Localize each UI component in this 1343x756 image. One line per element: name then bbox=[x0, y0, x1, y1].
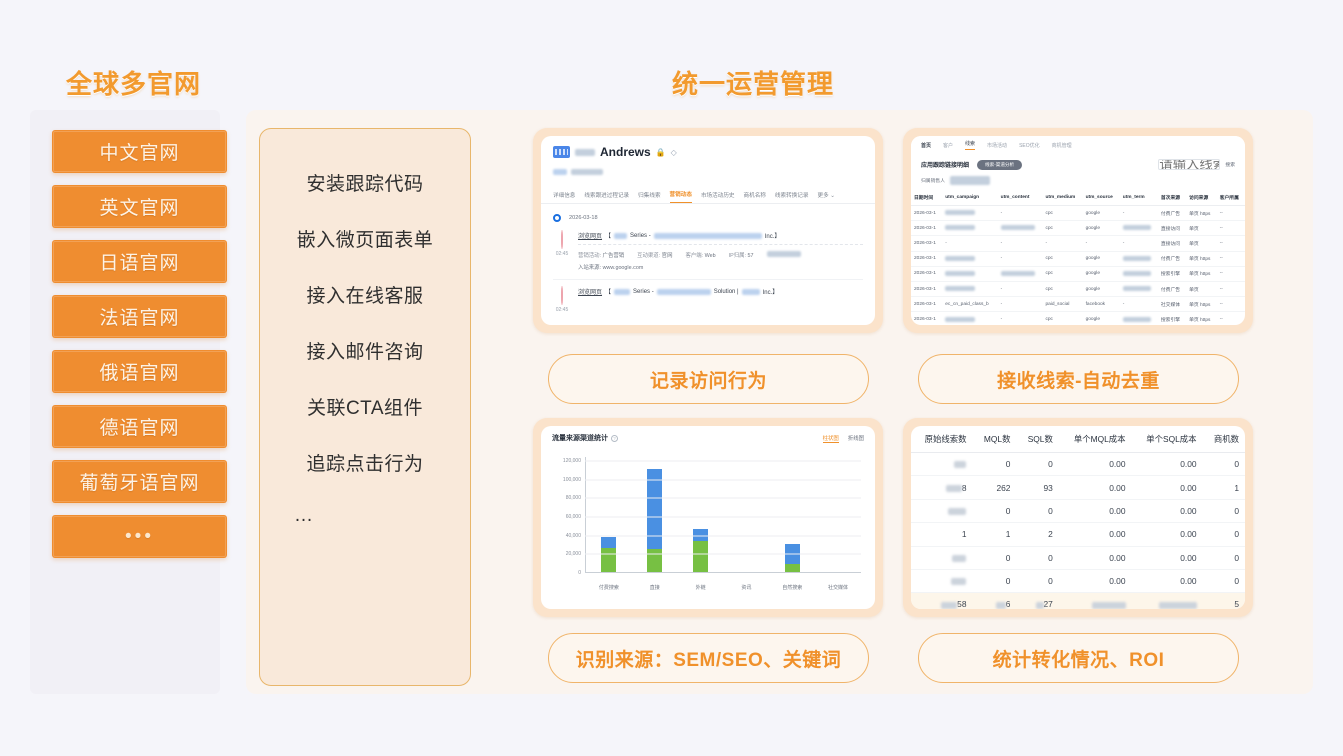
language-site-button[interactable]: 英文官网 bbox=[52, 185, 227, 228]
leads-cell-date: 2026-03-1 bbox=[911, 236, 942, 251]
leads-title: 应用跟踪链接明细 bbox=[921, 160, 969, 169]
language-site-button[interactable]: 法语官网 bbox=[52, 295, 227, 338]
chart-bar-segment bbox=[647, 469, 662, 548]
leads-cell-first: 社交媒体 bbox=[1158, 297, 1186, 312]
roi-table-row[interactable]: 000.000.000 bbox=[911, 546, 1245, 569]
filter-value-redacted[interactable] bbox=[950, 176, 990, 185]
contact-subtitle bbox=[553, 163, 863, 181]
leads-cell-visit: 单页 bbox=[1186, 221, 1217, 236]
search-input[interactable] bbox=[1158, 159, 1220, 170]
leads-cell-campaign: ec_cn_paid_class_b bbox=[942, 297, 997, 312]
language-site-button[interactable]: 日语官网 bbox=[52, 240, 227, 283]
chart-gridline bbox=[585, 554, 861, 555]
leads-cell-medium: - bbox=[1042, 236, 1082, 251]
behavior-tab[interactable]: 商机名称 bbox=[744, 191, 766, 203]
event-content: 浏览网页 【 Series - Inc.】 营销活动: 广告营销互动渠道: 官网… bbox=[578, 231, 863, 271]
screenshot-lead-dedup: 首页客户线索市场活动SEO优化商机管理 应用跟踪链接明细 线索-渠道分析 搜索 … bbox=[903, 128, 1253, 333]
leads-column-header[interactable]: 访问来源 bbox=[1186, 190, 1217, 206]
leads-cell-medium: cpc bbox=[1042, 312, 1082, 325]
leads-cell-date: 2026-03-1 bbox=[911, 266, 942, 281]
timeline-date: 2026-03-18 bbox=[569, 215, 598, 221]
roi-total-cell-raw: 58 bbox=[911, 593, 972, 609]
language-site-button[interactable]: 德语官网 bbox=[52, 405, 227, 448]
leads-nav-item[interactable]: SEO优化 bbox=[1019, 142, 1040, 149]
event-title-row: 浏览网页 【 Series - Inc.】 bbox=[578, 231, 863, 245]
roi-column-header[interactable]: 商机数 bbox=[1203, 426, 1245, 453]
roi-cell-opp: 0 bbox=[1203, 499, 1245, 522]
event-time-column: 02:45 bbox=[553, 287, 571, 313]
roi-table-row[interactable]: 000.000.000 bbox=[911, 569, 1245, 592]
roi-cell-opp: 0 bbox=[1203, 546, 1245, 569]
leads-column-header[interactable]: utm_content bbox=[998, 190, 1043, 206]
leads-cell-owner: -- bbox=[1217, 312, 1245, 325]
leads-cell-content: - bbox=[998, 281, 1043, 296]
redacted-value bbox=[1036, 602, 1044, 609]
page-title-right: 统一运营管理 bbox=[672, 64, 834, 101]
timeline-divider bbox=[553, 279, 863, 280]
leads-table-row[interactable]: 2026-03-1cpcgoogle直接访问单页-- bbox=[911, 221, 1245, 236]
leads-title-row: 应用跟踪链接明细 线索-渠道分析 搜索 bbox=[911, 154, 1245, 173]
roi-cell-mql: 0 bbox=[972, 546, 1016, 569]
leads-table: 日期时间utm_campaignutm_contentutm_mediumutm… bbox=[911, 190, 1245, 325]
roi-cell-sql_cost: 0.00 bbox=[1132, 476, 1203, 499]
leads-cell-source: google bbox=[1083, 221, 1120, 236]
language-site-button[interactable]: 葡萄牙语官网 bbox=[52, 460, 227, 503]
roi-cell-mql: 0 bbox=[972, 453, 1016, 476]
referrer-value: www.google.com bbox=[603, 265, 644, 271]
leads-column-header[interactable]: 日期时间 bbox=[911, 190, 942, 206]
event-referrer-row: 入站来源: www.google.com bbox=[578, 263, 863, 271]
roi-cell-sql: 0 bbox=[1016, 569, 1058, 592]
redacted-value bbox=[1123, 286, 1151, 291]
leads-cell-content: - bbox=[998, 297, 1043, 312]
contact-name: Andrews bbox=[600, 145, 651, 159]
roi-cell-sql_cost: 0.00 bbox=[1132, 499, 1203, 522]
event-meta-item: 客户端: Web bbox=[685, 251, 715, 259]
chart-x-axis bbox=[585, 572, 861, 573]
redacted-value bbox=[996, 602, 1006, 609]
leads-cell-date: 2026-03-1 bbox=[911, 221, 942, 236]
leads-cell-term bbox=[1120, 251, 1158, 266]
setup-step-item: … bbox=[294, 505, 316, 527]
setup-step-item: 接入邮件咨询 bbox=[306, 337, 423, 364]
roi-cell-mql_cost: 0.00 bbox=[1059, 569, 1132, 592]
roi-table-row[interactable]: 000.000.000 bbox=[911, 499, 1245, 522]
chart-x-tick-label: 外链 bbox=[678, 584, 724, 591]
leads-cell-content bbox=[998, 221, 1043, 236]
event-time-column: 02:45 bbox=[553, 231, 571, 271]
redacted-value bbox=[945, 271, 975, 276]
leads-table-row[interactable]: 2026-03-1ec_cn_paid_class_b-paid_socialf… bbox=[911, 297, 1245, 312]
redacted-value bbox=[945, 317, 975, 322]
chart-plot-area: 付费搜索直接外链资讯自然搜索社交媒体 120,000100,00080,0006… bbox=[551, 457, 865, 591]
behavior-tab[interactable]: 线索跟进过程记录 bbox=[584, 191, 629, 203]
redacted-page-part bbox=[614, 289, 630, 295]
chart-gridline bbox=[585, 498, 861, 499]
leads-cell-campaign bbox=[942, 206, 997, 221]
event-page-suffix: Inc.】 bbox=[765, 231, 781, 240]
leads-cell-first: 搜索引擎 bbox=[1158, 266, 1186, 281]
roi-column-header[interactable]: 单个MQL成本 bbox=[1059, 426, 1132, 453]
leads-nav-item[interactable]: 市场活动 bbox=[987, 142, 1007, 149]
redacted-value bbox=[952, 555, 966, 562]
behavior-tab[interactable]: 线索转换记录 bbox=[775, 191, 809, 203]
help-icon[interactable]: ? bbox=[611, 435, 618, 442]
roi-cell-mql: 0 bbox=[972, 499, 1016, 522]
leads-cell-campaign bbox=[942, 221, 997, 236]
behavior-tab[interactable]: 归集线索 bbox=[638, 191, 660, 203]
roi-cell-opp: 1 bbox=[1203, 476, 1245, 499]
redacted-value bbox=[1159, 602, 1197, 609]
leads-cell-medium: cpc bbox=[1042, 251, 1082, 266]
roi-cell-raw bbox=[911, 569, 972, 592]
leads-cell-content: - bbox=[998, 236, 1043, 251]
roi-cell-mql_cost: 0.00 bbox=[1059, 476, 1132, 499]
chart-header: 流量来源渠道统计 ? 柱状图 折线图 bbox=[541, 426, 875, 443]
language-site-button[interactable]: ••• bbox=[52, 515, 227, 558]
timeline-event: 02:45 浏览网页 【 Series - Solution | Inc.】 bbox=[553, 287, 863, 313]
roi-total-cell-sql: 27 bbox=[1016, 593, 1058, 609]
chart-y-tick-label: 60,000 bbox=[551, 514, 581, 520]
chart-title: 流量来源渠道统计 bbox=[552, 433, 608, 443]
redacted-page-title bbox=[657, 289, 711, 295]
roi-cell-raw bbox=[911, 546, 972, 569]
leads-cell-term: - bbox=[1120, 297, 1158, 312]
company-logo-icon bbox=[553, 146, 570, 158]
chart-app-window: 流量来源渠道统计 ? 柱状图 折线图 付费搜索直接外链资讯自然搜索社交媒体 12… bbox=[541, 426, 875, 609]
roi-cell-mql_cost: 0.00 bbox=[1059, 453, 1132, 476]
leads-cell-owner: -- bbox=[1217, 266, 1245, 281]
roi-app-window: 原始线索数MQL数SQL数单个MQL成本单个SQL成本商机数 000.000.0… bbox=[911, 426, 1245, 609]
leads-cell-visit: 单页 https bbox=[1186, 206, 1217, 221]
event-time: 02:45 bbox=[553, 251, 571, 257]
roi-cell-sql: 93 bbox=[1016, 476, 1058, 499]
redacted-value bbox=[948, 508, 966, 515]
leads-nav-bar[interactable]: 首页客户线索市场活动SEO优化商机管理 bbox=[911, 136, 1245, 154]
setup-step-item: 接入在线客服 bbox=[306, 281, 423, 308]
referrer-label: 入站来源: bbox=[578, 265, 601, 271]
leads-cell-visit: 单页 https bbox=[1186, 251, 1217, 266]
redacted-page-title bbox=[654, 233, 762, 239]
roi-cell-sql: 0 bbox=[1016, 453, 1058, 476]
leads-filter-bar: 归属销售人 bbox=[911, 173, 1245, 190]
roi-cell-raw: 1 bbox=[911, 523, 972, 546]
chart-gridline bbox=[585, 535, 861, 536]
timeline-date-row: 2026-03-18 bbox=[553, 214, 863, 222]
event-meta-row: 营销活动: 广告营销互动渠道: 官网客户端: WebIP归属: 57 bbox=[578, 251, 863, 259]
redacted-value bbox=[1001, 225, 1035, 230]
redacted-subtitle bbox=[571, 169, 603, 175]
roi-cell-sql: 0 bbox=[1016, 499, 1058, 522]
page-title-left: 全球多官网 bbox=[66, 64, 201, 101]
event-content: 浏览网页 【 Series - Solution | Inc.】 bbox=[578, 287, 863, 313]
behavior-header: Andrews 🔒 ◇ bbox=[541, 136, 875, 185]
leads-cell-source: google bbox=[1083, 266, 1120, 281]
behavior-tab[interactable]: 市场活动历史 bbox=[701, 191, 735, 203]
behavior-app-window: Andrews 🔒 ◇ 详细信息线索跟进过程记录归集线索营销动态市场活动历史商机… bbox=[541, 136, 875, 325]
leads-cell-content: - bbox=[998, 206, 1043, 221]
behavior-tab[interactable]: 更多 ⌄ bbox=[817, 191, 834, 203]
leads-cell-content: - bbox=[998, 251, 1043, 266]
redacted-page-part bbox=[614, 233, 627, 239]
leads-cell-source: google bbox=[1083, 312, 1120, 325]
event-action[interactable]: 浏览网页 bbox=[578, 231, 602, 240]
setup-steps-card: 安装跟踪代码嵌入微页面表单接入在线客服接入邮件咨询关联CTA组件追踪点击行为… bbox=[259, 128, 471, 686]
caption-identify-source: 识别来源：SEM/SEO、关键词 bbox=[548, 633, 869, 683]
leads-chip-badge: 线索-渠道分析 bbox=[977, 160, 1022, 170]
leads-cell-term bbox=[1120, 266, 1158, 281]
leads-table-row[interactable]: 2026-03-1-cpcgoogle-付费广告单页 https-- bbox=[911, 206, 1245, 221]
contact-header-row: Andrews 🔒 ◇ bbox=[553, 145, 863, 159]
roi-column-header[interactable]: 原始线索数 bbox=[911, 426, 972, 453]
chart-gridline bbox=[585, 517, 861, 518]
leads-app-window: 首页客户线索市场活动SEO优化商机管理 应用跟踪链接明细 线索-渠道分析 搜索 … bbox=[911, 136, 1245, 325]
roi-table-header-row: 原始线索数MQL数SQL数单个MQL成本单个SQL成本商机数 bbox=[911, 426, 1245, 453]
chart-x-tick-label: 资讯 bbox=[723, 584, 769, 591]
roi-table-row[interactable]: 000.000.000 bbox=[911, 453, 1245, 476]
leads-cell-campaign: - bbox=[942, 236, 997, 251]
chart-x-tick-label: 付费搜索 bbox=[586, 584, 632, 591]
leads-table-body: 2026-03-1-cpcgoogle-付费广告单页 https--2026-0… bbox=[911, 206, 1245, 326]
redacted-value bbox=[945, 286, 975, 291]
leads-cell-campaign bbox=[942, 281, 997, 296]
roi-table-row[interactable]: 8262930.000.001 bbox=[911, 476, 1245, 499]
timeline-marker-icon bbox=[553, 214, 561, 222]
setup-step-item: 追踪点击行为 bbox=[306, 449, 423, 476]
setup-step-item: 嵌入微页面表单 bbox=[297, 225, 434, 252]
visitor-avatar bbox=[561, 286, 563, 305]
roi-cell-opp: 0 bbox=[1203, 453, 1245, 476]
leads-cell-date: 2026-03-1 bbox=[911, 281, 942, 296]
chart-x-tick-label: 自然搜索 bbox=[769, 584, 815, 591]
leads-cell-first: 直接访问 bbox=[1158, 236, 1186, 251]
roi-column-header[interactable]: MQL数 bbox=[972, 426, 1016, 453]
language-site-button[interactable]: 俄语官网 bbox=[52, 350, 227, 393]
leads-cell-campaign bbox=[942, 251, 997, 266]
language-site-list: 中文官网英文官网日语官网法语官网俄语官网德语官网葡萄牙语官网••• bbox=[52, 130, 227, 558]
redacted-name-prefix bbox=[575, 149, 595, 156]
chart-gridline bbox=[585, 479, 861, 480]
leads-nav-item[interactable]: 首页 bbox=[921, 142, 931, 149]
roi-cell-sql: 2 bbox=[1016, 523, 1058, 546]
event-action[interactable]: 浏览网页 bbox=[578, 287, 602, 296]
leads-column-header[interactable]: utm_campaign bbox=[942, 190, 997, 206]
leads-column-header[interactable]: utm_medium bbox=[1042, 190, 1082, 206]
event-meta-item: 营销活动: 广告营销 bbox=[578, 251, 624, 259]
setup-step-item: 关联CTA组件 bbox=[307, 393, 423, 420]
chart-gridline bbox=[585, 461, 861, 462]
search-button[interactable]: 搜索 bbox=[1225, 161, 1235, 168]
chart-y-tick-label: 80,000 bbox=[551, 495, 581, 501]
behavior-tab[interactable]: 营销动态 bbox=[670, 190, 692, 203]
leads-cell-first: 直接访问 bbox=[1158, 221, 1186, 236]
redacted-value bbox=[1123, 271, 1151, 276]
caption-receive-leads-dedup: 接收线索-自动去重 bbox=[918, 354, 1239, 404]
roi-cell-sql_cost: 0.00 bbox=[1132, 569, 1203, 592]
leads-cell-date: 2026-03-1 bbox=[911, 251, 942, 266]
roi-cell-mql_cost: 0.00 bbox=[1059, 499, 1132, 522]
chart-stacked-bar bbox=[647, 469, 662, 572]
leads-cell-source: google bbox=[1083, 251, 1120, 266]
language-site-button[interactable]: 中文官网 bbox=[52, 130, 227, 173]
leads-cell-term bbox=[1120, 312, 1158, 325]
redacted-value bbox=[1001, 271, 1035, 276]
leads-table-row[interactable]: 2026-03-1-cpcgoogle付费广告单页-- bbox=[911, 281, 1245, 296]
event-page-mid: Series - bbox=[633, 289, 654, 295]
chart-y-tick-label: 100,000 bbox=[551, 477, 581, 483]
behavior-tab-bar[interactable]: 详细信息线索跟进过程记录归集线索营销动态市场活动历史商机名称线索转换记录更多 ⌄ bbox=[541, 185, 875, 204]
roi-cell-sql_cost: 0.00 bbox=[1132, 546, 1203, 569]
roi-cell-mql_cost: 0.00 bbox=[1059, 523, 1132, 546]
roi-cell-mql: 0 bbox=[972, 569, 1016, 592]
roi-column-header[interactable]: 单个SQL成本 bbox=[1132, 426, 1203, 453]
event-meta-item: IP归属: 57 bbox=[729, 251, 754, 259]
leads-cell-content bbox=[998, 266, 1043, 281]
event-title-row: 浏览网页 【 Series - Solution | Inc.】 bbox=[578, 287, 863, 300]
roi-cell-sql_cost: 0.00 bbox=[1132, 523, 1203, 546]
roi-total-cell-mql_cost bbox=[1059, 593, 1132, 609]
redacted-value bbox=[1123, 225, 1151, 230]
roi-table: 原始线索数MQL数SQL数单个MQL成本单个SQL成本商机数 000.000.0… bbox=[911, 426, 1245, 609]
leads-cell-medium: cpc bbox=[1042, 266, 1082, 281]
leads-cell-content: - bbox=[998, 312, 1043, 325]
redacted-value bbox=[941, 602, 957, 609]
leads-search-area: 搜索 bbox=[1158, 159, 1235, 170]
redacted-value bbox=[946, 485, 962, 492]
redacted-value bbox=[951, 578, 966, 585]
redacted-badge bbox=[553, 169, 567, 175]
tag-icon[interactable]: ◇ bbox=[671, 148, 677, 157]
event-page-tail: Inc.】 bbox=[763, 287, 779, 296]
roi-cell-sql: 0 bbox=[1016, 546, 1058, 569]
leads-cell-visit: 单页 bbox=[1186, 281, 1217, 296]
leads-cell-owner: -- bbox=[1217, 206, 1245, 221]
leads-cell-owner: -- bbox=[1217, 251, 1245, 266]
chart-x-tick-label: 直接 bbox=[632, 584, 678, 591]
behavior-timeline: 2026-03-18 02:45 浏览网页 【 Series - bbox=[541, 204, 875, 325]
leads-column-header[interactable]: 首次来源 bbox=[1158, 190, 1186, 206]
leads-column-header[interactable]: utm_term bbox=[1120, 190, 1158, 206]
roi-cell-raw bbox=[911, 453, 972, 476]
chart-y-tick-label: 40,000 bbox=[551, 533, 581, 539]
screenshot-conversion-roi: 原始线索数MQL数SQL数单个MQL成本单个SQL成本商机数 000.000.0… bbox=[903, 418, 1253, 617]
chart-y-tick-label: 20,000 bbox=[551, 551, 581, 557]
roi-cell-sql_cost: 0.00 bbox=[1132, 453, 1203, 476]
chart-y-tick-label: 0 bbox=[551, 570, 581, 576]
chart-bar-segment bbox=[785, 564, 800, 572]
leads-cell-visit: 单页 bbox=[1186, 236, 1217, 251]
leads-nav-item[interactable]: 客户 bbox=[943, 142, 953, 149]
leads-cell-campaign bbox=[942, 266, 997, 281]
leads-cell-first: 付费广告 bbox=[1158, 206, 1186, 221]
lock-icon[interactable]: 🔒 bbox=[656, 148, 666, 157]
roi-cell-opp: 0 bbox=[1203, 569, 1245, 592]
leads-cell-owner: -- bbox=[1217, 236, 1245, 251]
roi-cell-raw bbox=[911, 499, 972, 522]
filter-label: 归属销售人 bbox=[921, 177, 945, 184]
leads-cell-first: 付费广告 bbox=[1158, 251, 1186, 266]
leads-table-row[interactable]: 2026-03-1-----直接访问单页-- bbox=[911, 236, 1245, 251]
roi-cell-mql_cost: 0.00 bbox=[1059, 546, 1132, 569]
leads-table-row[interactable]: 2026-03-1-cpcgoogle付费广告单页 https-- bbox=[911, 251, 1245, 266]
event-bracket-open: 【 bbox=[605, 287, 611, 296]
screenshot-visit-behavior: Andrews 🔒 ◇ 详细信息线索跟进过程记录归集线索营销动态市场活动历史商机… bbox=[533, 128, 883, 333]
roi-cell-mql: 262 bbox=[972, 476, 1016, 499]
event-bracket-open: 【 bbox=[605, 231, 611, 240]
behavior-tab[interactable]: 详细信息 bbox=[553, 191, 575, 203]
redacted-value bbox=[945, 256, 975, 261]
leads-cell-visit: 单页 https bbox=[1186, 312, 1217, 325]
chart-x-tick-label: 社交媒体 bbox=[815, 584, 861, 591]
roi-cell-raw: 8 bbox=[911, 476, 972, 499]
leads-cell-first: 付费广告 bbox=[1158, 281, 1186, 296]
setup-step-item: 安装跟踪代码 bbox=[306, 169, 423, 196]
redacted-value bbox=[945, 225, 975, 230]
roi-column-header[interactable]: SQL数 bbox=[1016, 426, 1058, 453]
event-time: 02:45 bbox=[553, 307, 571, 313]
leads-nav-item[interactable]: 商机管理 bbox=[1052, 142, 1072, 149]
chart-bar-segment bbox=[693, 541, 708, 572]
leads-cell-date: 2026-03-1 bbox=[911, 312, 942, 325]
redacted-value bbox=[945, 210, 975, 215]
chart-toggle-line[interactable]: 折线图 bbox=[848, 434, 864, 443]
leads-cell-term bbox=[1120, 281, 1158, 296]
leads-table-row[interactable]: 2026-03-1-cpcgoogle搜索引擎单页 https-- bbox=[911, 312, 1245, 325]
leads-column-header[interactable]: 客户所属 bbox=[1217, 190, 1245, 206]
roi-total-cell-mql: 6 bbox=[972, 593, 1016, 609]
roi-cell-opp: 0 bbox=[1203, 523, 1245, 546]
leads-cell-date: 2026-03-1 bbox=[911, 206, 942, 221]
caption-record-visit-behavior: 记录访问行为 bbox=[548, 354, 869, 404]
leads-cell-medium: paid_social bbox=[1042, 297, 1082, 312]
chart-bar-segment bbox=[647, 549, 662, 572]
leads-cell-term: - bbox=[1120, 236, 1158, 251]
screenshot-traffic-source-chart: 流量来源渠道统计 ? 柱状图 折线图 付费搜索直接外链资讯自然搜索社交媒体 12… bbox=[533, 418, 883, 617]
caption-conversion-roi: 统计转化情况、ROI bbox=[918, 633, 1239, 683]
roi-table-row[interactable]: 1120.000.000 bbox=[911, 523, 1245, 546]
redacted-value bbox=[1092, 602, 1126, 609]
chart-toggle-bar[interactable]: 柱状图 bbox=[823, 434, 839, 443]
leads-nav-item[interactable]: 线索 bbox=[965, 140, 975, 150]
roi-total-row: 586275 bbox=[911, 593, 1245, 609]
event-meta-item: 互动渠道: 官网 bbox=[637, 251, 672, 259]
chart-view-toggle[interactable]: 柱状图 折线图 bbox=[823, 434, 864, 443]
leads-cell-owner: -- bbox=[1217, 221, 1245, 236]
leads-cell-medium: cpc bbox=[1042, 281, 1082, 296]
leads-column-header[interactable]: utm_source bbox=[1083, 190, 1120, 206]
chart-y-tick-label: 120,000 bbox=[551, 458, 581, 464]
roi-cell-mql: 1 bbox=[972, 523, 1016, 546]
roi-total-cell-opp: 5 bbox=[1203, 593, 1245, 609]
leads-cell-source: google bbox=[1083, 206, 1120, 221]
leads-cell-medium: cpc bbox=[1042, 221, 1082, 236]
roi-table-body: 000.000.0008262930.000.001000.000.000112… bbox=[911, 453, 1245, 610]
infographic-page: 全球多官网 统一运营管理 中文官网英文官网日语官网法语官网俄语官网德语官网葡萄牙… bbox=[0, 0, 1343, 756]
redacted-value bbox=[1123, 317, 1151, 322]
leads-cell-term: - bbox=[1120, 206, 1158, 221]
redacted-value bbox=[1123, 256, 1151, 261]
leads-table-row[interactable]: 2026-03-1cpcgoogle搜索引擎单页 https-- bbox=[911, 266, 1245, 281]
leads-table-header-row: 日期时间utm_campaignutm_contentutm_mediumutm… bbox=[911, 190, 1245, 206]
leads-cell-source: - bbox=[1083, 236, 1120, 251]
timeline-event: 02:45 浏览网页 【 Series - Inc.】 营销活动: 广告营销互动… bbox=[553, 231, 863, 271]
redacted-value bbox=[954, 461, 966, 468]
leads-cell-first: 搜索引擎 bbox=[1158, 312, 1186, 325]
leads-cell-term bbox=[1120, 221, 1158, 236]
chart-bar-segment bbox=[601, 537, 616, 548]
redacted-ip bbox=[767, 251, 801, 257]
leads-cell-source: facebook bbox=[1083, 297, 1120, 312]
